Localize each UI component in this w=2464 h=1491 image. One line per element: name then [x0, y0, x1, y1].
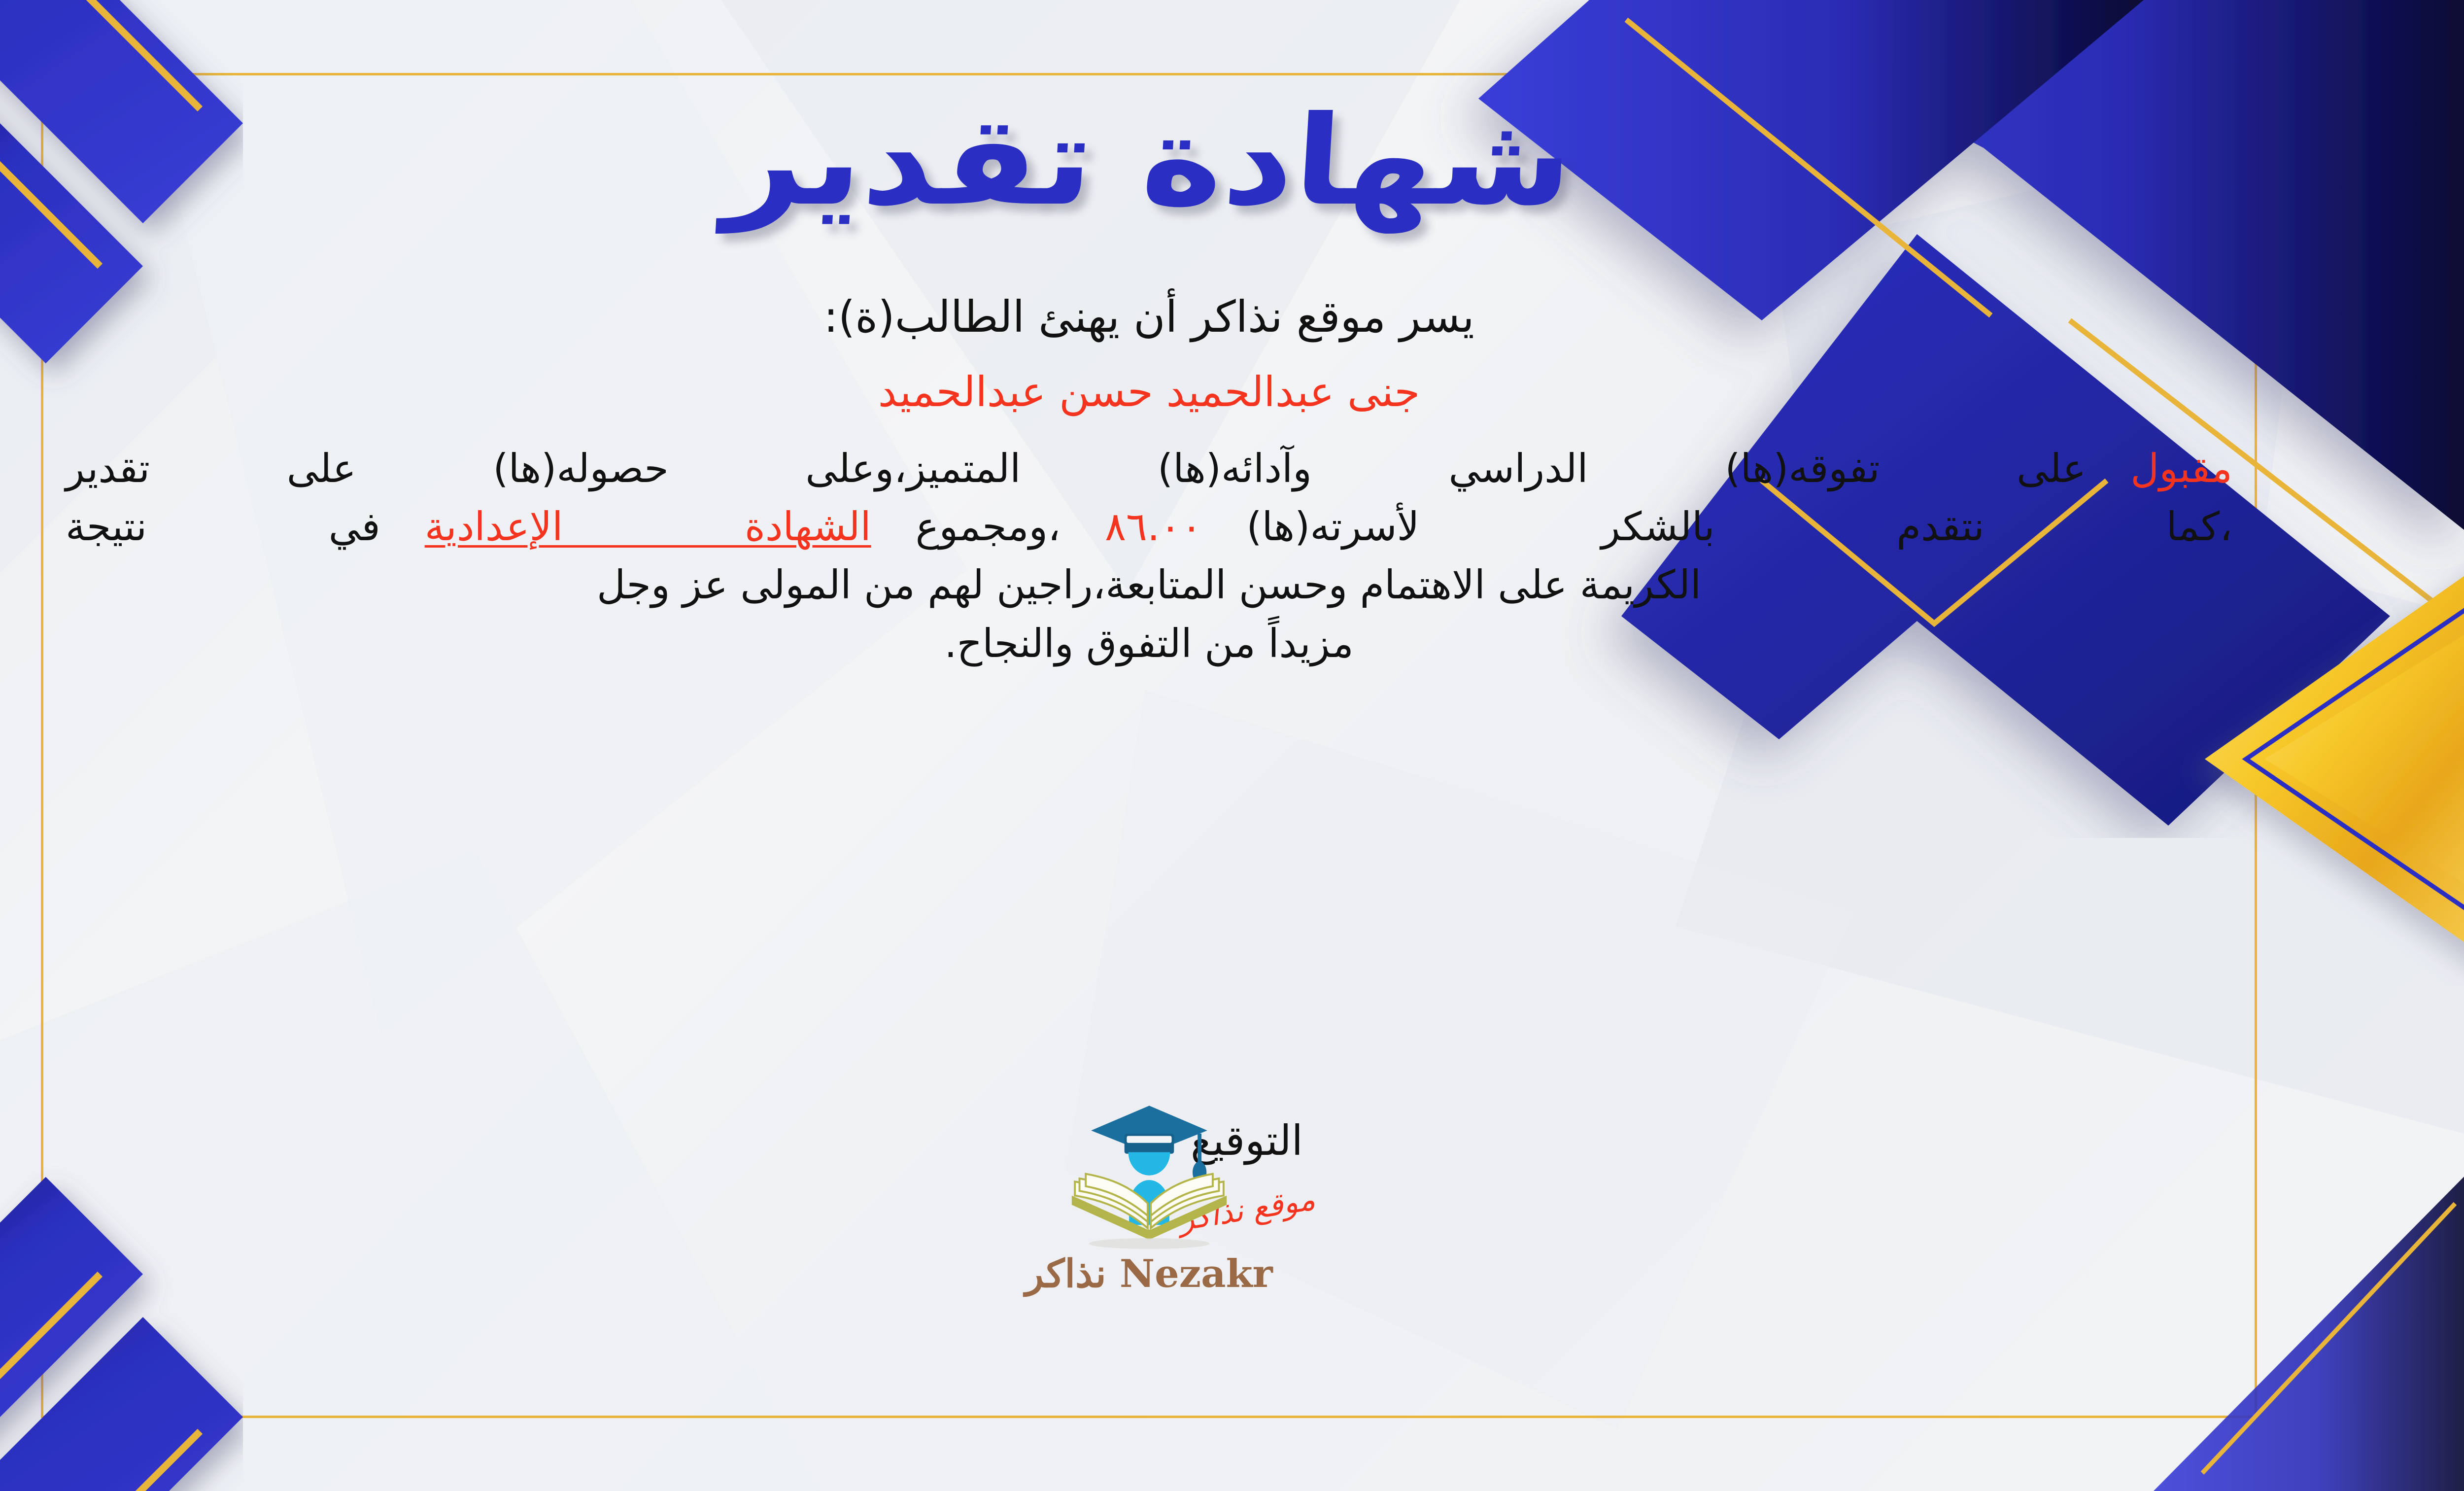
student-name: جنى عبدالحميد حسن عبدالحميد	[878, 368, 1420, 416]
certificate-canvas: شهادة تقدير يسر موقع نذاكر أن يهنئ الطال…	[0, 0, 2464, 1491]
brand-wordmark: Nezakr نذاكر	[996, 1251, 1302, 1296]
certificate-footer: التوقيع موقع نذاكر	[66, 1087, 2232, 1402]
body-line-2-suffix: ،كما نتقدم بالشكر لأسرته(ها)	[1246, 504, 2232, 550]
body-line-2: ،كما نتقدم بالشكر لأسرته(ها)٨٦.٠٠،ومجموع…	[66, 498, 2232, 556]
certificate-content: شهادة تقدير يسر موقع نذاكر أن يهنئ الطال…	[66, 84, 2232, 1407]
graduate-book-icon	[1046, 1092, 1253, 1254]
body-line-2-total-label: ،ومجموع	[916, 504, 1061, 550]
certificate-body: مقبولعلى تفوقه(ها) الدراسي وآدائه(ها) ال…	[66, 440, 2232, 673]
certificate-title: شهادة تقدير	[721, 97, 1576, 226]
certificate-stage-name: الشهادة الإعدادية	[425, 504, 871, 550]
body-line-4: مزيداً من التفوق والنجاح.	[66, 615, 2232, 673]
body-line-3: الكريمة على الاهتمام وحسن المتابعة،راجين…	[66, 556, 2232, 614]
body-line-2-prefix: في نتيجة	[66, 504, 380, 550]
greeting-line: يسر موقع نذاكر أن يهنئ الطالب(ة):	[823, 291, 1474, 342]
total-score-value: ٨٦.٠٠	[1105, 504, 1202, 550]
body-line-1: مقبولعلى تفوقه(ها) الدراسي وآدائه(ها) ال…	[66, 440, 2232, 498]
body-line-1-text: على تفوقه(ها) الدراسي وآدائه(ها) المتميز…	[66, 446, 2086, 491]
brand-logo: Nezakr نذاكر	[996, 1092, 1302, 1296]
grade-value: مقبول	[2130, 446, 2232, 491]
